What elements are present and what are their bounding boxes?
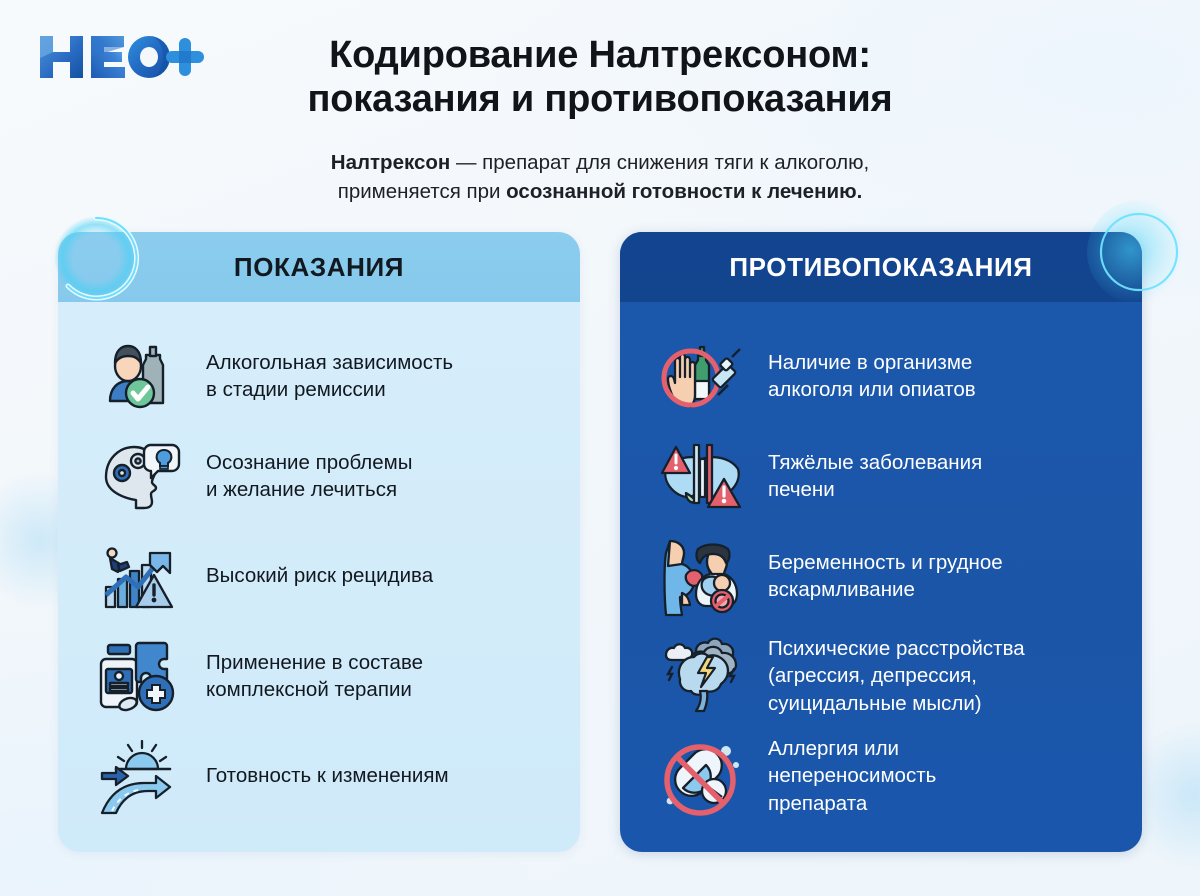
list-item[interactable]: Осознание проблемыи желание лечиться <box>58 426 580 526</box>
brain-storm-icon <box>660 635 746 717</box>
sunrise-road-arrow-icon <box>98 735 184 817</box>
page-subtitle: Налтрексон — препарат для снижения тяги … <box>200 148 1000 206</box>
infographic-page: Кодирование Налтрексоном: показания и пр… <box>0 0 1200 896</box>
list-item[interactable]: Аллергия илинепереносимостьпрепарата <box>620 726 1142 826</box>
subtitle-line-2: применяется при осознанной готовности к … <box>200 177 1000 206</box>
stop-hand-bottle-syringe-icon <box>660 335 746 417</box>
list-item[interactable]: Высокий риск рецидива <box>58 526 580 626</box>
list-item[interactable]: Применение в составекомплексной терапии <box>58 626 580 726</box>
subtitle-text-2: применяется при <box>338 180 506 203</box>
list-item[interactable]: Беременность и грудноевскармливание <box>620 526 1142 626</box>
list-item-label: Осознание проблемыи желание лечиться <box>206 449 413 504</box>
title-line-2: показания и противопоказания <box>180 77 1020 121</box>
list-item[interactable]: Психические расстройства(агрессия, депре… <box>620 626 1142 726</box>
person-bottle-check-icon <box>98 335 184 417</box>
head-gears-lightbulb-icon <box>98 435 184 517</box>
contraindications-list: Наличие в организмеалкоголя или опиатов <box>620 302 1142 826</box>
title-line-1: Кодирование Налтрексоном: <box>180 33 1020 77</box>
list-item[interactable]: Наличие в организмеалкоголя или опиатов <box>620 326 1142 426</box>
list-item-label: Готовность к изменениям <box>206 762 449 789</box>
liver-warning-icon <box>660 435 746 517</box>
list-item-label: Применение в составекомплексной терапии <box>206 649 423 704</box>
pregnancy-breastfeeding-icon <box>660 535 746 617</box>
list-item-label: Аллергия илинепереносимостьпрепарата <box>768 735 936 817</box>
contraindications-heading: ПРОТИВОПОКАЗАНИЯ <box>729 252 1032 283</box>
subtitle-text-1: — препарат для снижения тяги к алкоголю, <box>450 151 869 174</box>
list-item-label: Алкогольная зависимостьв стадии ремиссии <box>206 349 453 404</box>
subtitle-emphasis: осознанной готовности к лечению. <box>506 180 862 203</box>
no-pills-allergy-icon <box>660 735 746 817</box>
subtitle-line-1: Налтрексон — препарат для снижения тяги … <box>200 148 1000 177</box>
indications-card-header: ПОКАЗАНИЯ <box>58 232 580 302</box>
page-title: Кодирование Налтрексоном: показания и пр… <box>180 33 1020 121</box>
rising-chart-warning-icon <box>98 535 184 617</box>
list-item[interactable]: Тяжёлые заболеванияпечени <box>620 426 1142 526</box>
contraindications-card: ПРОТИВОПОКАЗАНИЯ <box>620 232 1142 852</box>
indications-list: Алкогольная зависимостьв стадии ремиссии <box>58 302 580 826</box>
list-item-label: Беременность и грудноевскармливание <box>768 549 1003 604</box>
list-item-label: Психические расстройства(агрессия, депре… <box>768 635 1025 717</box>
list-item-label: Наличие в организмеалкоголя или опиатов <box>768 349 976 404</box>
contraindications-card-header: ПРОТИВОПОКАЗАНИЯ <box>620 232 1142 302</box>
pill-bottle-puzzle-cross-icon <box>98 635 184 717</box>
indications-heading: ПОКАЗАНИЯ <box>234 252 404 283</box>
list-item-label: Тяжёлые заболеванияпечени <box>768 449 982 504</box>
list-item[interactable]: Алкогольная зависимостьв стадии ремиссии <box>58 326 580 426</box>
indications-card: ПОКАЗАНИЯ <box>58 232 580 852</box>
list-item-label: Высокий риск рецидива <box>206 562 433 589</box>
list-item[interactable]: Готовность к изменениям <box>58 726 580 826</box>
subtitle-drug-name: Налтрексон <box>331 151 451 174</box>
